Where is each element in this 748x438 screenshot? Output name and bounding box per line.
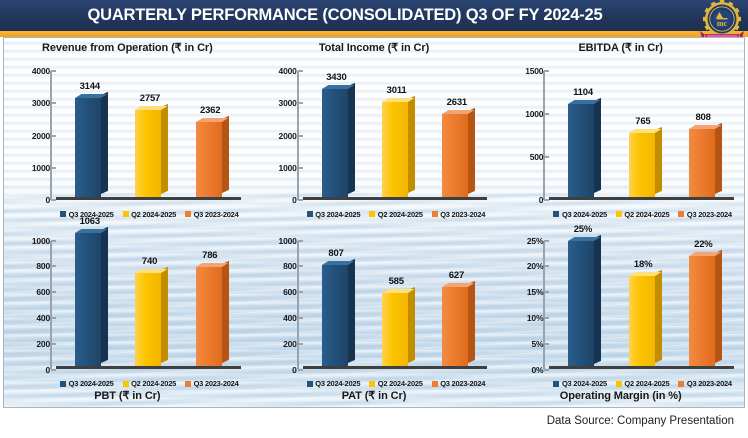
legend-swatch-icon: [616, 211, 622, 217]
y-axis-tick-label: 10%: [527, 313, 543, 323]
chart-legend: Q3 2024-2025Q2 2024-2025Q3 2023-2024: [303, 210, 490, 219]
y-axis-line: [543, 71, 545, 200]
legend-label: Q2 2024-2025: [624, 379, 669, 388]
legend-swatch-icon: [553, 381, 559, 387]
legend-swatch-icon: [60, 381, 66, 387]
x-axis-baseline: [303, 197, 488, 200]
y-axis-tick-label: 800: [283, 261, 297, 271]
legend-swatch-icon: [369, 211, 375, 217]
bar-front-face: [568, 104, 594, 196]
legend-label: Q2 2024-2025: [378, 379, 423, 388]
y-axis-tick-label: 1000: [32, 163, 50, 173]
bar-1: 807: [322, 265, 348, 366]
y-axis-tick-label: 0: [292, 195, 297, 205]
x-axis-baseline: [56, 366, 241, 369]
bar-front-face: [629, 276, 655, 366]
chart-panel-total-income: Total Income (₹ in Cr) 40003000200010000…: [251, 38, 498, 223]
legend-item[interactable]: Q2 2024-2025: [369, 210, 422, 219]
bar-top-face: [382, 289, 414, 293]
chart-panel-operating-margin: Operating Margin (in %) 25%20%15%10%5%0%…: [497, 223, 744, 408]
plot-wrap: 150010005000 1104765808 Q3 2024-2025Q2 2…: [499, 55, 742, 221]
legend-item[interactable]: Q3 2024-2025: [553, 379, 606, 388]
y-axis-tick-label: 1000: [279, 163, 297, 173]
bar-value-label: 585: [389, 276, 404, 287]
y-axis: 150010005000: [503, 69, 549, 221]
y-axis-tick-label: 4000: [32, 66, 50, 76]
bar-front-face: [689, 129, 715, 197]
legend-item[interactable]: Q3 2023-2024: [432, 379, 485, 388]
bar-front-face: [196, 122, 222, 196]
y-axis-tick-label: 1500: [525, 66, 543, 76]
legend-swatch-icon: [60, 211, 66, 217]
slide-page: QUARTERLY PERFORMANCE (CONSOLIDATED) Q3 …: [0, 0, 748, 438]
y-axis-tick-label: 3000: [279, 98, 297, 108]
bar-front-face: [196, 267, 222, 366]
legend-swatch-icon: [432, 381, 438, 387]
legend-swatch-icon: [185, 381, 191, 387]
y-axis-tick-label: 500: [530, 152, 544, 162]
bar-side-face: [594, 234, 601, 363]
bar-side-face: [715, 249, 722, 363]
bar-front-face: [689, 256, 715, 366]
chart-title: Operating Margin (in %): [560, 390, 682, 403]
plot-area: 1063740786 Q3 2024-2025Q2 2024-2025Q3 20…: [56, 239, 243, 391]
plot-wrap: 40003000200010000 314427572362 Q3 2024-2…: [6, 55, 249, 221]
chart-title: EBITDA (₹ in Cr): [578, 42, 662, 55]
plot-area: 807585627 Q3 2024-2025Q2 2024-2025Q3 202…: [303, 239, 490, 391]
legend-item[interactable]: Q3 2023-2024: [678, 379, 731, 388]
y-axis-tick-label: 4000: [279, 66, 297, 76]
bar-3: 22%: [689, 256, 715, 366]
legend-swatch-icon: [678, 211, 684, 217]
chart-title: Total Income (₹ in Cr): [319, 42, 429, 55]
data-source-note: Data Source: Company Presentation: [547, 415, 734, 427]
bar-side-face: [222, 261, 229, 363]
bar-2: 740: [135, 273, 161, 366]
chart-legend: Q3 2024-2025Q2 2024-2025Q3 2023-2024: [303, 379, 490, 388]
y-axis-tick-label: 5%: [531, 339, 543, 349]
bar-value-label: 1104: [573, 87, 593, 98]
legend-label: Q3 2023-2024: [687, 210, 732, 219]
y-axis-tick-label: 1000: [279, 236, 297, 246]
bar-1: 1104: [568, 104, 594, 196]
bar-1: 1063: [75, 233, 101, 366]
chart-panel-ebitda: EBITDA (₹ in Cr) 150010005000 1104765808…: [497, 38, 744, 223]
chart-title: PAT (₹ in Cr): [342, 390, 407, 403]
bar-side-face: [655, 126, 662, 193]
bar-value-label: 765: [635, 116, 650, 127]
legend-item[interactable]: Q2 2024-2025: [616, 210, 669, 219]
bar-side-face: [101, 226, 108, 363]
legend-label: Q3 2024-2025: [562, 379, 607, 388]
y-axis-tick-label: 0: [45, 365, 50, 375]
legend-label: Q3 2023-2024: [194, 210, 239, 219]
chart-panel-pat: PAT (₹ in Cr) 10008006004002000 80758562…: [251, 223, 498, 408]
bar-front-face: [442, 287, 468, 366]
legend-item[interactable]: Q2 2024-2025: [369, 379, 422, 388]
plot-area: 1104765808 Q3 2024-2025Q2 2024-2025Q3 20…: [549, 69, 736, 221]
bar-value-label: 22%: [694, 239, 712, 250]
legend-label: Q2 2024-2025: [131, 379, 176, 388]
legend-label: Q2 2024-2025: [624, 210, 669, 219]
bar-3: 786: [196, 267, 222, 366]
y-axis-tick-label: 2000: [32, 131, 50, 141]
bar-2: 18%: [629, 276, 655, 366]
bar-side-face: [655, 270, 662, 363]
y-axis-tick-label: 15%: [527, 287, 543, 297]
y-axis: 10008006004002000: [10, 239, 56, 391]
legend-swatch-icon: [369, 381, 375, 387]
bar-value-label: 740: [142, 256, 157, 267]
bar-side-face: [715, 123, 722, 194]
bar-front-face: [135, 273, 161, 366]
legend-item[interactable]: Q3 2024-2025: [553, 210, 606, 219]
legend-swatch-icon: [123, 211, 129, 217]
bar-value-label: 3144: [80, 81, 100, 92]
bar-value-label: 786: [202, 250, 217, 261]
y-axis-tick-label: 0%: [531, 365, 543, 375]
bar-front-face: [629, 133, 655, 197]
y-axis-tick-label: 600: [36, 287, 50, 297]
legend-item[interactable]: Q3 2023-2024: [185, 379, 238, 388]
chart-legend: Q3 2024-2025Q2 2024-2025Q3 2023-2024: [549, 210, 736, 219]
bar-value-label: 18%: [634, 259, 652, 270]
y-axis-tick-label: 600: [283, 287, 297, 297]
y-axis-tick-label: 2000: [279, 131, 297, 141]
legend-label: Q3 2023-2024: [440, 379, 485, 388]
y-axis-tick-label: 0: [45, 195, 50, 205]
legend-label: Q3 2023-2024: [440, 210, 485, 219]
legend-swatch-icon: [307, 211, 313, 217]
legend-item[interactable]: Q2 2024-2025: [616, 379, 669, 388]
legend-swatch-icon: [432, 211, 438, 217]
bar-side-face: [348, 83, 355, 194]
bar-side-face: [468, 108, 475, 194]
bar-front-face: [442, 114, 468, 197]
bar-series: 314427572362: [58, 71, 239, 197]
chart-legend: Q3 2024-2025Q2 2024-2025Q3 2023-2024: [549, 379, 736, 388]
bar-2: 2757: [135, 110, 161, 197]
y-axis-tick-label: 1000: [32, 236, 50, 246]
bar-front-face: [322, 89, 348, 197]
y-axis-line: [543, 241, 545, 370]
bar-2: 585: [382, 293, 408, 366]
legend-swatch-icon: [678, 381, 684, 387]
chart-canvas: Revenue from Operation (₹ in Cr) 4000300…: [3, 37, 745, 408]
bar-side-face: [408, 96, 415, 194]
bar-3: 2362: [196, 122, 222, 196]
legend-swatch-icon: [307, 381, 313, 387]
bar-front-face: [135, 110, 161, 197]
legend-label: Q3 2024-2025: [69, 379, 114, 388]
legend-label: Q3 2024-2025: [315, 210, 360, 219]
x-axis-baseline: [303, 366, 488, 369]
legend-label: Q2 2024-2025: [378, 210, 423, 219]
y-axis-tick-label: 3000: [32, 98, 50, 108]
bar-front-face: [75, 98, 101, 197]
y-axis-tick-label: 1000: [525, 109, 543, 119]
bar-front-face: [568, 241, 594, 367]
footer: Data Source: Company Presentation: [0, 409, 748, 438]
y-axis-tick-label: 400: [36, 313, 50, 323]
y-axis-tick-label: 800: [36, 261, 50, 271]
y-axis-tick-label: 200: [36, 339, 50, 349]
plot-area: 314427572362 Q3 2024-2025Q2 2024-2025Q3 …: [56, 69, 243, 221]
plot-area: 25%18%22% Q3 2024-2025Q2 2024-2025Q3 202…: [549, 239, 736, 391]
legend-item[interactable]: Q2 2024-2025: [123, 379, 176, 388]
legend-label: Q3 2023-2024: [687, 379, 732, 388]
plot-wrap: 10008006004002000 1063740786 Q3 2024-202…: [6, 225, 249, 391]
bar-1: 25%: [568, 241, 594, 367]
bar-value-label: 627: [449, 270, 464, 281]
bar-top-face: [689, 252, 721, 256]
legend-label: Q2 2024-2025: [131, 210, 176, 219]
bar-side-face: [348, 259, 355, 363]
y-axis-tick-label: 400: [283, 313, 297, 323]
bar-side-face: [222, 116, 229, 193]
x-axis-baseline: [549, 197, 734, 200]
chart-grid: Revenue from Operation (₹ in Cr) 4000300…: [4, 38, 744, 407]
bar-side-face: [594, 98, 601, 193]
plot-wrap: 40003000200010000 343030112631 Q3 2024-2…: [253, 55, 496, 221]
legend-item[interactable]: Q3 2023-2024: [432, 210, 485, 219]
legend-label: Q3 2024-2025: [315, 379, 360, 388]
bar-series: 343030112631: [305, 71, 486, 197]
y-axis-tick-label: 0: [539, 195, 544, 205]
legend-item[interactable]: Q2 2024-2025: [123, 210, 176, 219]
legend-item[interactable]: Q3 2023-2024: [185, 210, 238, 219]
bar-value-label: 1063: [80, 216, 100, 227]
y-axis: 40003000200010000: [10, 69, 56, 221]
bar-front-face: [75, 233, 101, 366]
x-axis-baseline: [549, 366, 734, 369]
y-axis: 10008006004002000: [257, 239, 303, 391]
bar-side-face: [468, 281, 475, 363]
bar-value-label: 25%: [574, 224, 592, 235]
bar-value-label: 2631: [447, 97, 467, 108]
bar-front-face: [322, 265, 348, 366]
bar-value-label: 2757: [140, 93, 160, 104]
bar-3: 627: [442, 287, 468, 366]
bar-2: 765: [629, 133, 655, 197]
chart-panel-revenue-from-operation: Revenue from Operation (₹ in Cr) 4000300…: [4, 38, 251, 223]
bar-3: 2631: [442, 114, 468, 197]
bar-2: 3011: [382, 102, 408, 196]
legend-label: Q3 2023-2024: [194, 379, 239, 388]
bar-series: 25%18%22%: [551, 241, 732, 367]
x-axis-baseline: [56, 197, 241, 200]
bar-1: 3430: [322, 89, 348, 197]
legend-swatch-icon: [185, 211, 191, 217]
bar-3: 808: [689, 129, 715, 197]
title-bar: QUARTERLY PERFORMANCE (CONSOLIDATED) Q3 …: [0, 0, 748, 31]
bar-side-face: [161, 267, 168, 363]
bar-value-label: 3430: [326, 72, 346, 83]
bar-series: 807585627: [305, 241, 486, 367]
bar-side-face: [408, 286, 415, 363]
legend-swatch-icon: [616, 381, 622, 387]
bar-top-face: [629, 272, 661, 276]
bar-series: 1063740786: [58, 241, 239, 367]
plot-wrap: 10008006004002000 807585627 Q3 2024-2025…: [253, 225, 496, 391]
svg-text:mc: mc: [717, 19, 728, 28]
bar-series: 1104765808: [551, 71, 732, 197]
legend-item[interactable]: Q3 2024-2025: [60, 379, 113, 388]
chart-title: PBT (₹ in Cr): [94, 390, 160, 403]
legend-item[interactable]: Q3 2024-2025: [307, 379, 360, 388]
bar-top-face: [322, 261, 354, 265]
bar-front-face: [382, 293, 408, 366]
y-axis-tick-label: 25%: [527, 236, 543, 246]
bar-front-face: [382, 102, 408, 196]
y-axis-tick-label: 0: [292, 365, 297, 375]
bar-side-face: [161, 104, 168, 194]
y-axis-tick-label: 200: [283, 339, 297, 349]
legend-swatch-icon: [123, 381, 129, 387]
y-axis-line: [50, 241, 52, 370]
y-axis: 25%20%15%10%5%0%: [503, 239, 549, 391]
bar-value-label: 2362: [200, 105, 220, 116]
bar-side-face: [101, 92, 108, 194]
bar-value-label: 807: [328, 248, 343, 259]
y-axis-line: [297, 241, 299, 370]
bar-1: 3144: [75, 98, 101, 197]
chart-title: Revenue from Operation (₹ in Cr): [42, 42, 213, 55]
plot-area: 343030112631 Q3 2024-2025Q2 2024-2025Q3 …: [303, 69, 490, 221]
legend-item[interactable]: Q3 2023-2024: [678, 210, 731, 219]
legend-item[interactable]: Q3 2024-2025: [307, 210, 360, 219]
legend-swatch-icon: [553, 211, 559, 217]
bar-top-face: [629, 129, 661, 133]
y-axis-tick-label: 20%: [527, 261, 543, 271]
y-axis: 40003000200010000: [257, 69, 303, 221]
chart-panel-pbt: PBT (₹ in Cr) 10008006004002000 10637407…: [4, 223, 251, 408]
page-title: QUARTERLY PERFORMANCE (CONSOLIDATED) Q3 …: [0, 0, 690, 31]
chart-legend: Q3 2024-2025Q2 2024-2025Q3 2023-2024: [56, 379, 243, 388]
bar-value-label: 3011: [387, 85, 407, 96]
plot-wrap: 25%20%15%10%5%0% 25%18%22% Q3 2024-2025Q…: [499, 225, 742, 391]
bar-value-label: 808: [695, 112, 710, 123]
legend-label: Q3 2024-2025: [562, 210, 607, 219]
